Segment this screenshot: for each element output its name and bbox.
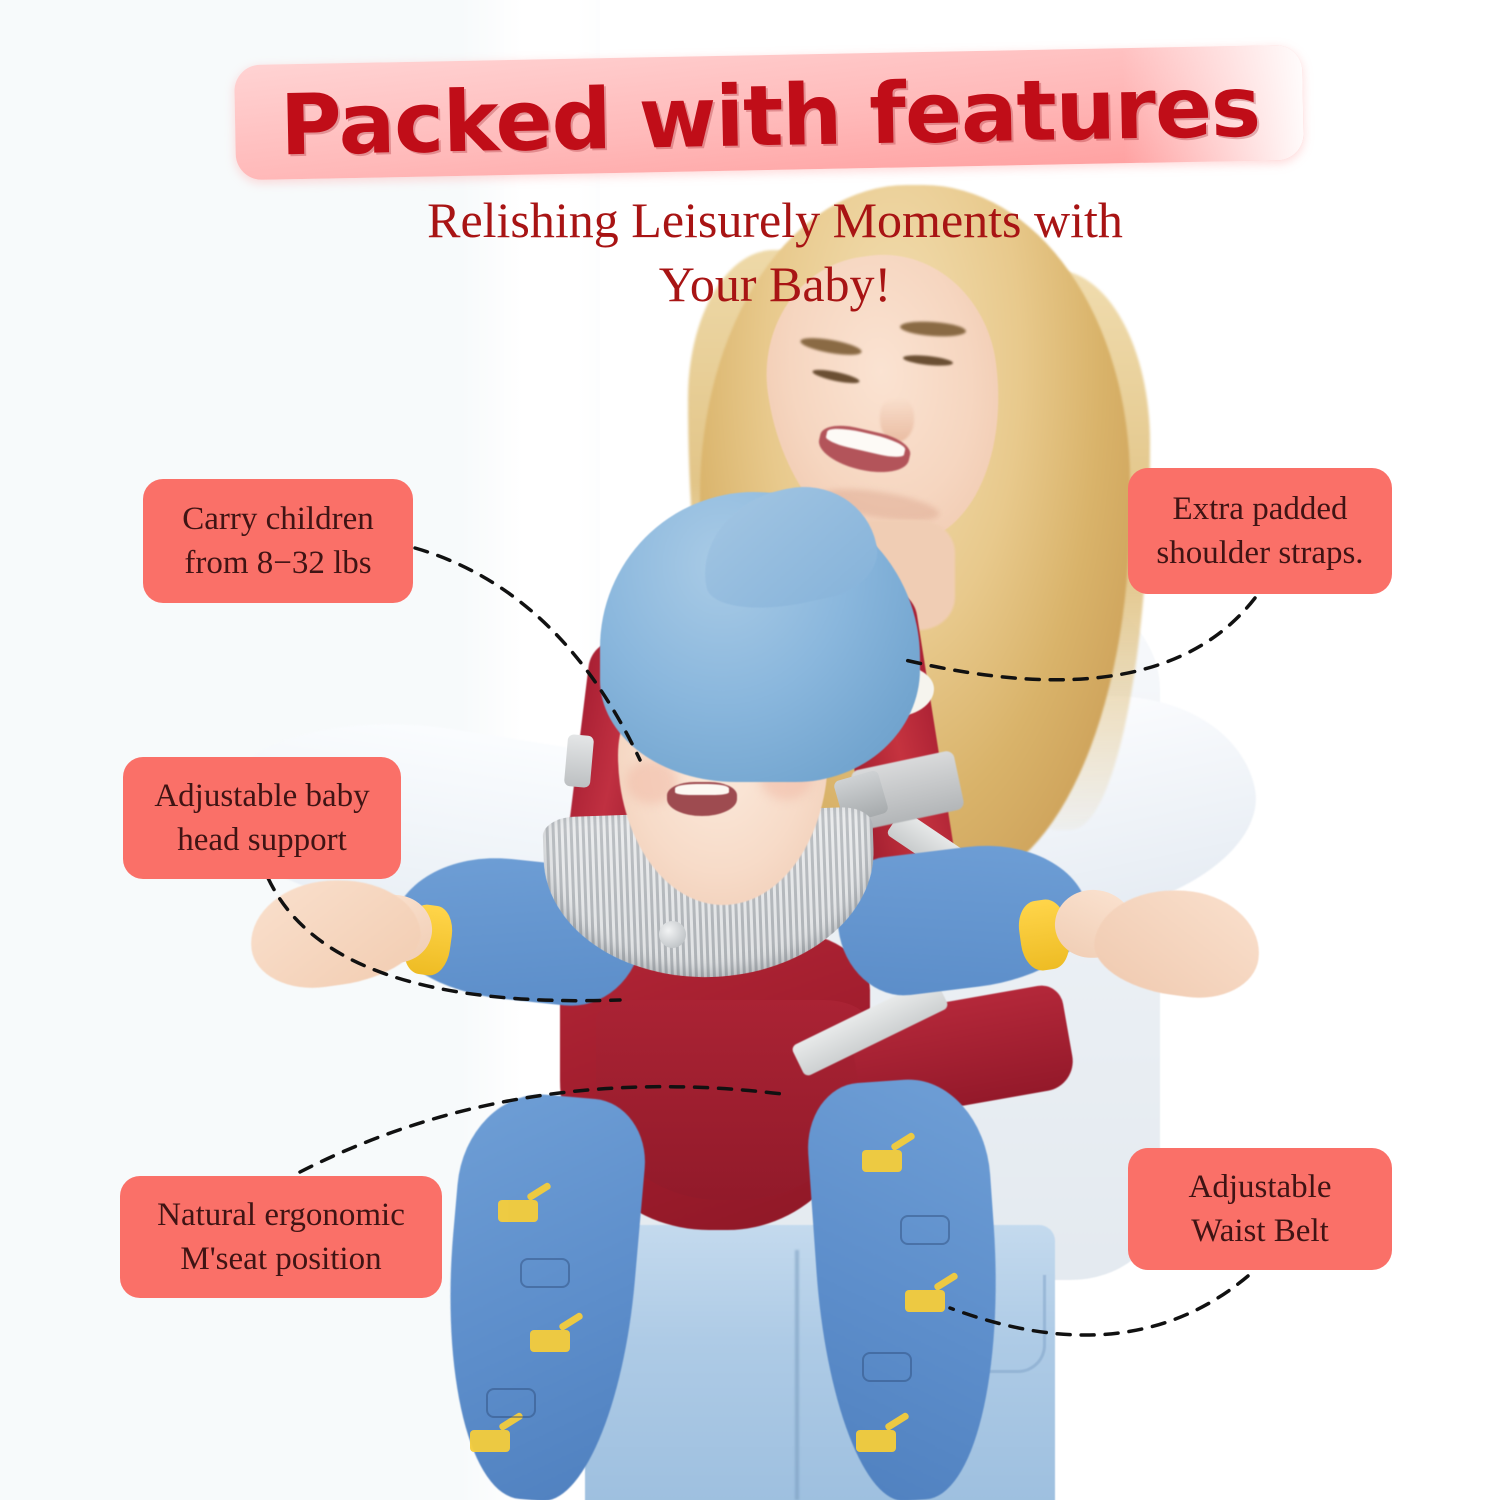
outfit-print-car: [900, 1215, 950, 1245]
callout-line-2: M'seat position: [157, 1237, 405, 1281]
outfit-print-car: [520, 1258, 570, 1288]
outfit-print-excavator: [862, 1150, 902, 1172]
outfit-print-excavator: [530, 1330, 570, 1352]
outfit-print-car: [486, 1388, 536, 1418]
callout-line-2: head support: [154, 818, 369, 862]
head-support-snap-button: [659, 921, 686, 948]
subtitle-line-2: Your Baby!: [330, 252, 1220, 316]
outfit-print-excavator: [905, 1290, 945, 1312]
subtitle-line-1: Relishing Leisurely Moments with: [330, 188, 1220, 252]
baby-mouth: [667, 782, 737, 816]
callout-line-1: Adjustable baby: [154, 774, 369, 818]
carry-weight-callout[interactable]: Carry children from 8−32 lbs: [143, 479, 413, 603]
head-support-callout[interactable]: Adjustable baby head support: [123, 757, 401, 879]
callout-line-1: Extra padded: [1156, 487, 1363, 531]
callout-line-1: Natural ergonomic: [157, 1193, 405, 1237]
waist-belt-callout[interactable]: Adjustable Waist Belt: [1128, 1148, 1392, 1270]
callout-line-2: Waist Belt: [1189, 1209, 1332, 1253]
callout-line-2: from 8−32 lbs: [182, 541, 374, 585]
outfit-print-excavator: [498, 1200, 538, 1222]
outfit-print-excavator: [856, 1430, 896, 1452]
page-subtitle: Relishing Leisurely Moments with Your Ba…: [330, 188, 1220, 316]
infographic-canvas: Packed with features Relishing Leisurely…: [0, 0, 1500, 1500]
callout-line-1: Carry children: [182, 497, 374, 541]
jeans-seam: [795, 1250, 799, 1500]
m-seat-callout[interactable]: Natural ergonomic M'seat position: [120, 1176, 442, 1298]
page-title: Packed with features: [254, 52, 1286, 180]
callout-line-2: shoulder straps.: [1156, 531, 1363, 575]
outfit-print-excavator: [470, 1430, 510, 1452]
callout-line-1: Adjustable: [1189, 1165, 1332, 1209]
outfit-print-car: [862, 1352, 912, 1382]
shoulder-strap-callout[interactable]: Extra padded shoulder straps.: [1128, 468, 1392, 594]
carrier-side-clip: [564, 734, 594, 788]
